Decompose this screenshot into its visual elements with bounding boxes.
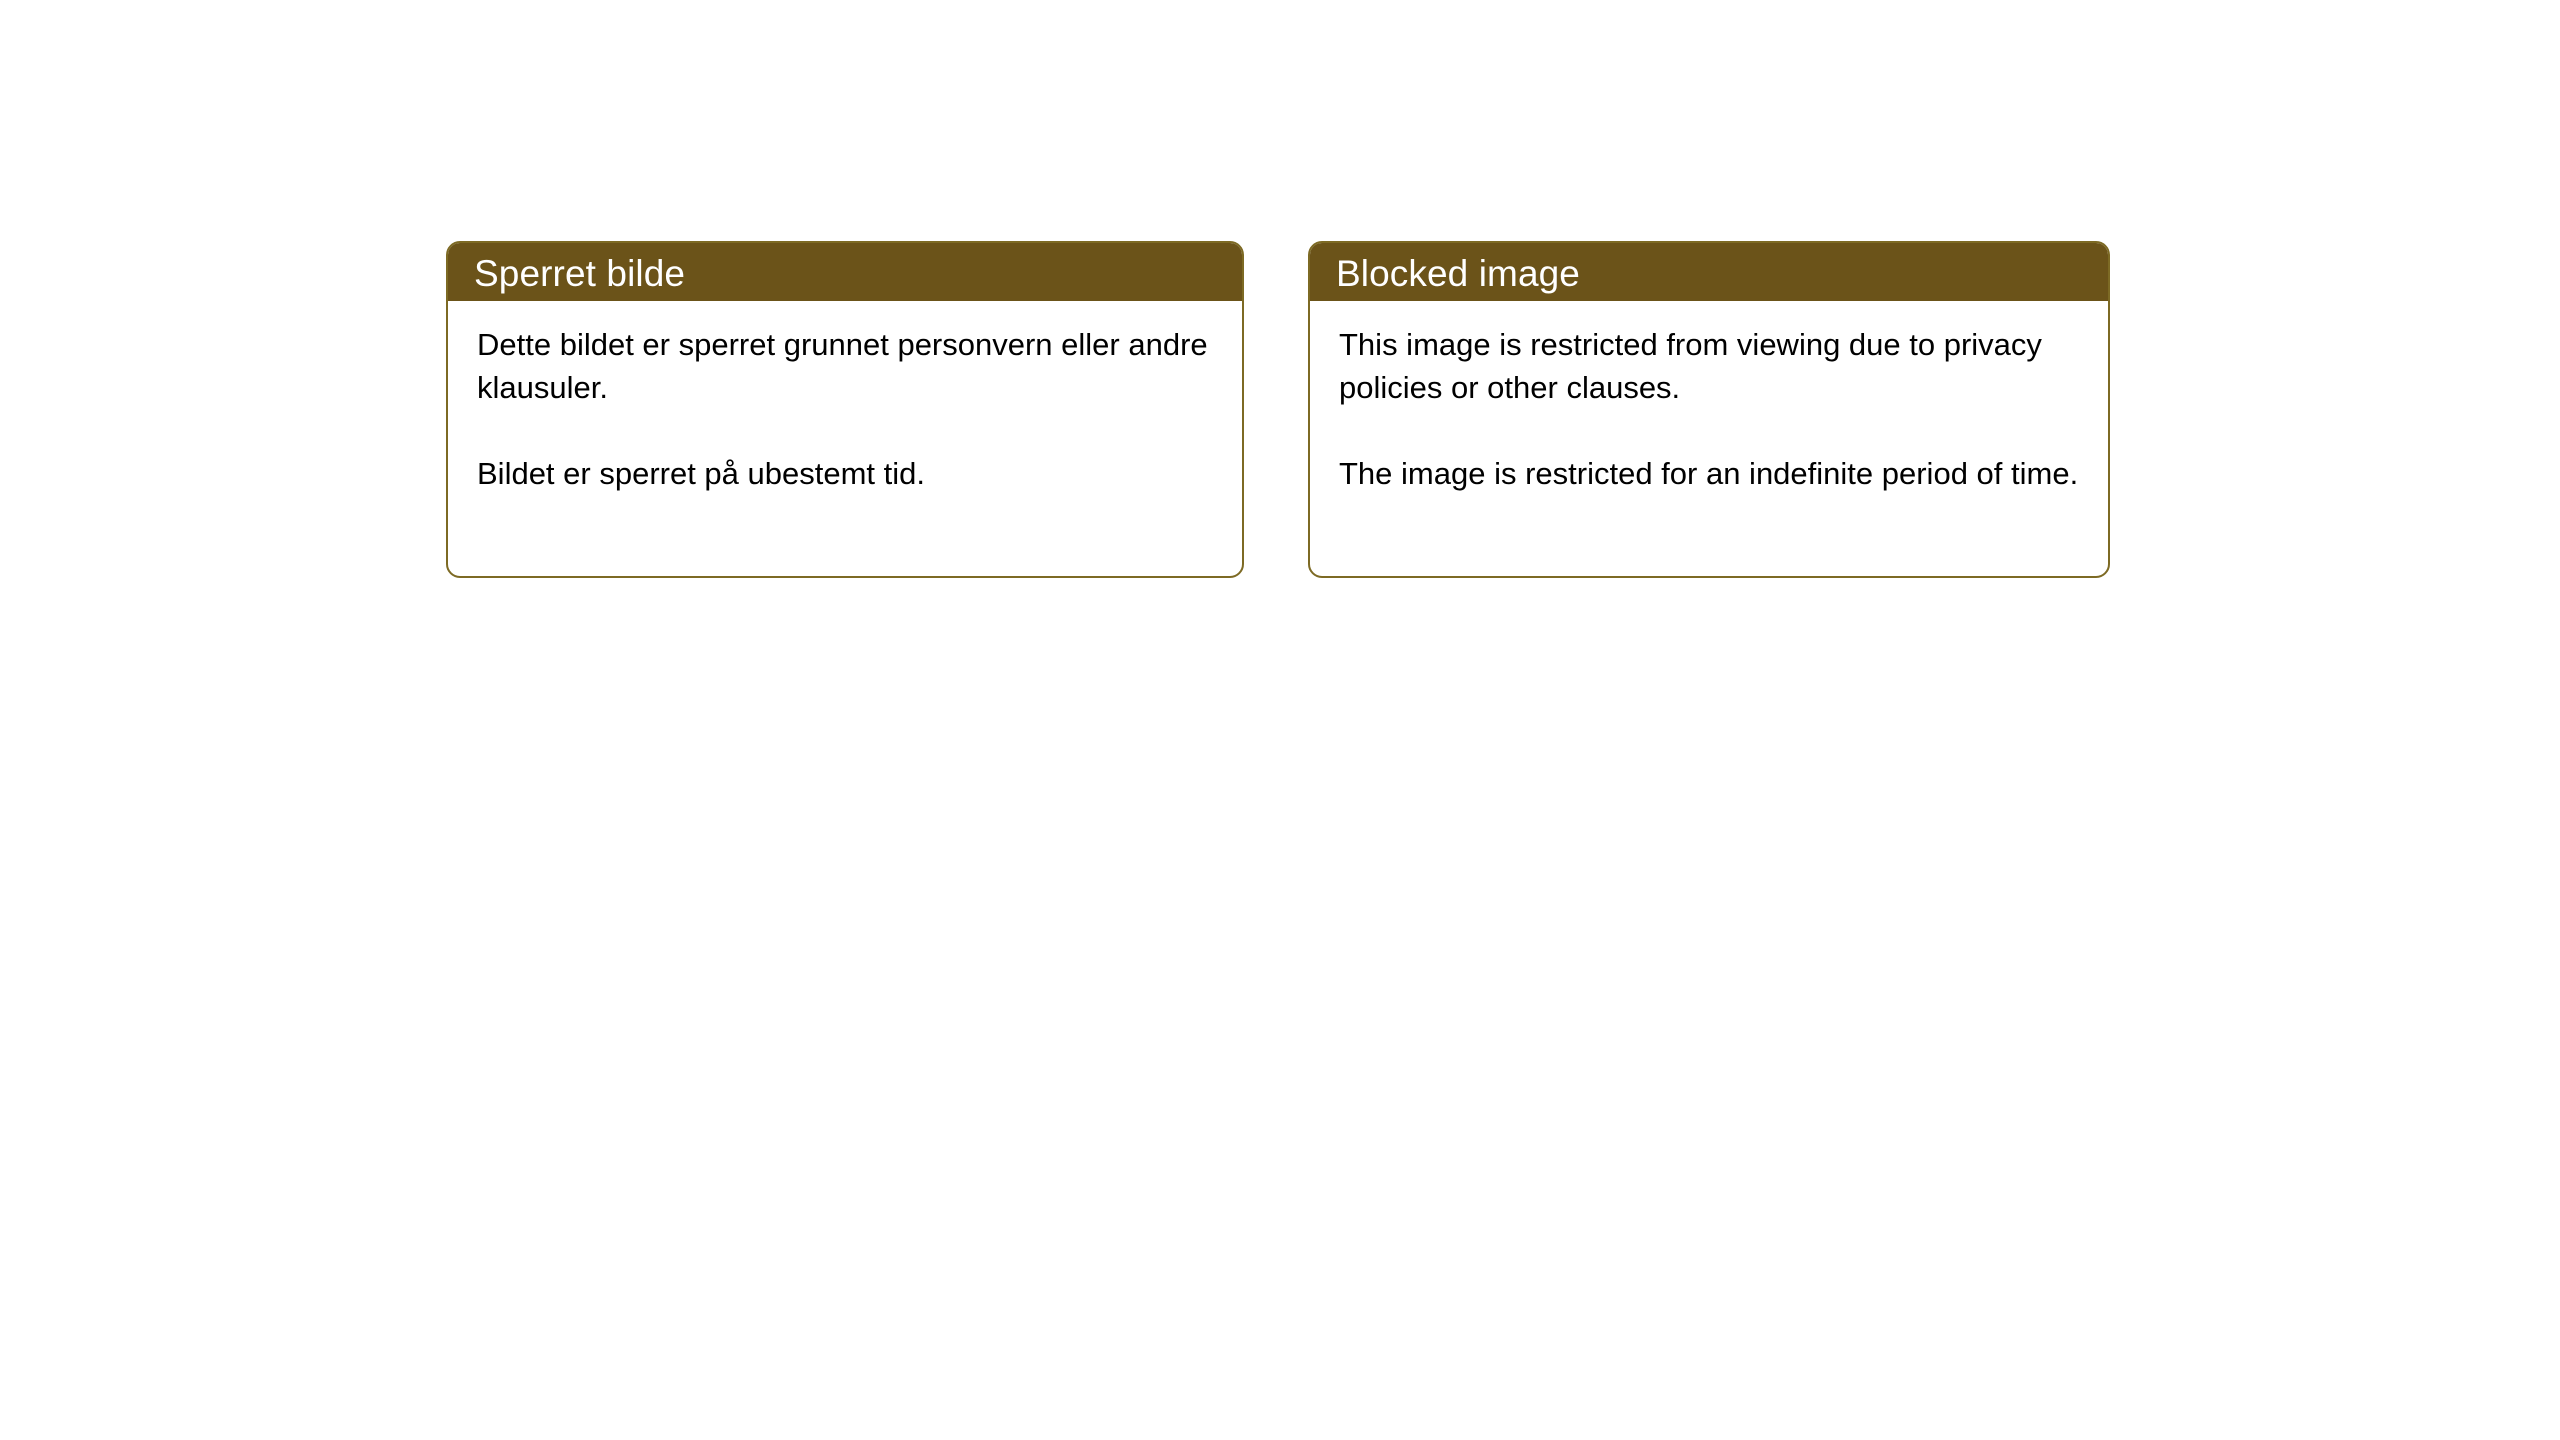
- page-canvas: Sperret bilde Dette bildet er sperret gr…: [0, 0, 2560, 1440]
- blocked-image-card-norwegian: Sperret bilde Dette bildet er sperret gr…: [446, 241, 1244, 578]
- card-title-norwegian: Sperret bilde: [474, 255, 685, 292]
- paragraph-spacer: [1339, 409, 2086, 452]
- paragraph-spacer: [477, 409, 1220, 452]
- card-paragraph-primary-norwegian: Dette bildet er sperret grunnet personve…: [477, 323, 1220, 409]
- card-paragraph-secondary-english: The image is restricted for an indefinit…: [1339, 452, 2086, 495]
- card-header-english: Blocked image: [1310, 243, 2108, 301]
- card-title-english: Blocked image: [1336, 255, 1580, 292]
- card-body-norwegian: Dette bildet er sperret grunnet personve…: [448, 301, 1242, 495]
- card-paragraph-primary-english: This image is restricted from viewing du…: [1339, 323, 2086, 409]
- card-paragraph-secondary-norwegian: Bildet er sperret på ubestemt tid.: [477, 452, 1220, 495]
- card-header-norwegian: Sperret bilde: [448, 243, 1242, 301]
- blocked-image-card-english: Blocked image This image is restricted f…: [1308, 241, 2110, 578]
- card-body-english: This image is restricted from viewing du…: [1310, 301, 2108, 495]
